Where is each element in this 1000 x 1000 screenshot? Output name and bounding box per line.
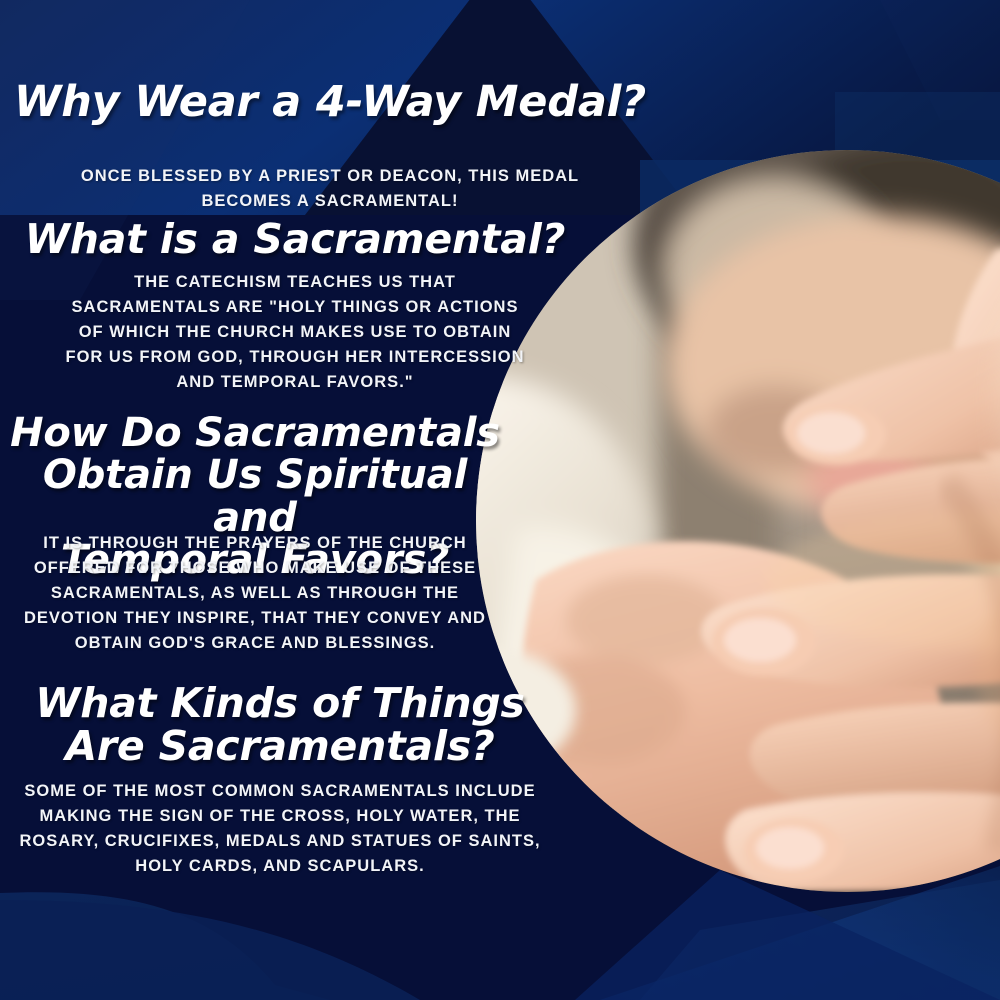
page-title: Why Wear a 4-Way Medal? — [0, 80, 660, 126]
section-3-heading: What Kinds of Things Are Sacramentals? — [0, 682, 560, 769]
main-title-block: Why Wear a 4-Way Medal? — [0, 80, 660, 126]
section-1-body-block: THE CATECHISM TEACHES US THAT SACRAMENTA… — [0, 270, 590, 395]
intro-text: ONCE BLESSED BY A PRIEST OR DEACON, THIS… — [0, 164, 660, 214]
poster-canvas: Why Wear a 4-Way Medal? ONCE BLESSED BY … — [0, 0, 1000, 1000]
intro-block: ONCE BLESSED BY A PRIEST OR DEACON, THIS… — [0, 164, 660, 214]
section-3-body-block: SOME OF THE MOST COMMON SACRAMENTALS INC… — [0, 779, 560, 879]
text-content: Why Wear a 4-Way Medal? ONCE BLESSED BY … — [0, 0, 1000, 1000]
section-3-heading-block: What Kinds of Things Are Sacramentals? — [0, 682, 560, 769]
section-3-body: SOME OF THE MOST COMMON SACRAMENTALS INC… — [0, 779, 560, 879]
section-1-heading-block: What is a Sacramental? — [0, 218, 590, 261]
section-2-body: IT IS THROUGH THE PRAYERS OF THE CHURCH … — [0, 531, 510, 656]
section-1-heading: What is a Sacramental? — [0, 218, 590, 261]
section-1-body: THE CATECHISM TEACHES US THAT SACRAMENTA… — [0, 270, 590, 395]
section-2-body-block: IT IS THROUGH THE PRAYERS OF THE CHURCH … — [0, 531, 510, 656]
